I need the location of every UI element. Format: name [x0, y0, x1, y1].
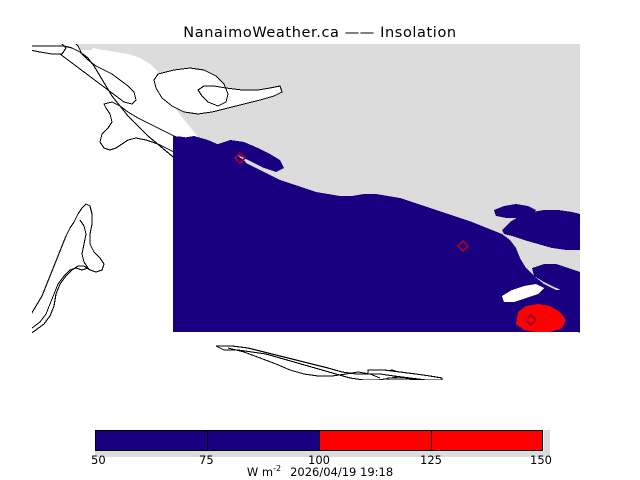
map-canvas[interactable]: [32, 44, 580, 380]
weather-map-page: NanaimoWeather.ca —— Insolation: [0, 0, 640, 480]
units-label: W m-2: [247, 465, 281, 479]
colorbar-tick-100: [319, 430, 320, 451]
colorbar-tick-125: [431, 430, 432, 451]
units-text: W m: [247, 465, 273, 479]
timestamp-label: 2026/04/19 19:18: [290, 465, 393, 479]
units-and-timestamp: W m-22026/04/19 19:18: [0, 464, 640, 479]
colorbar[interactable]: [95, 430, 543, 451]
colorbar-tick-75: [207, 430, 208, 451]
page-title: NanaimoWeather.ca —— Insolation: [0, 25, 640, 41]
units-exponent: -2: [273, 464, 281, 473]
map-graphic: [32, 44, 580, 380]
